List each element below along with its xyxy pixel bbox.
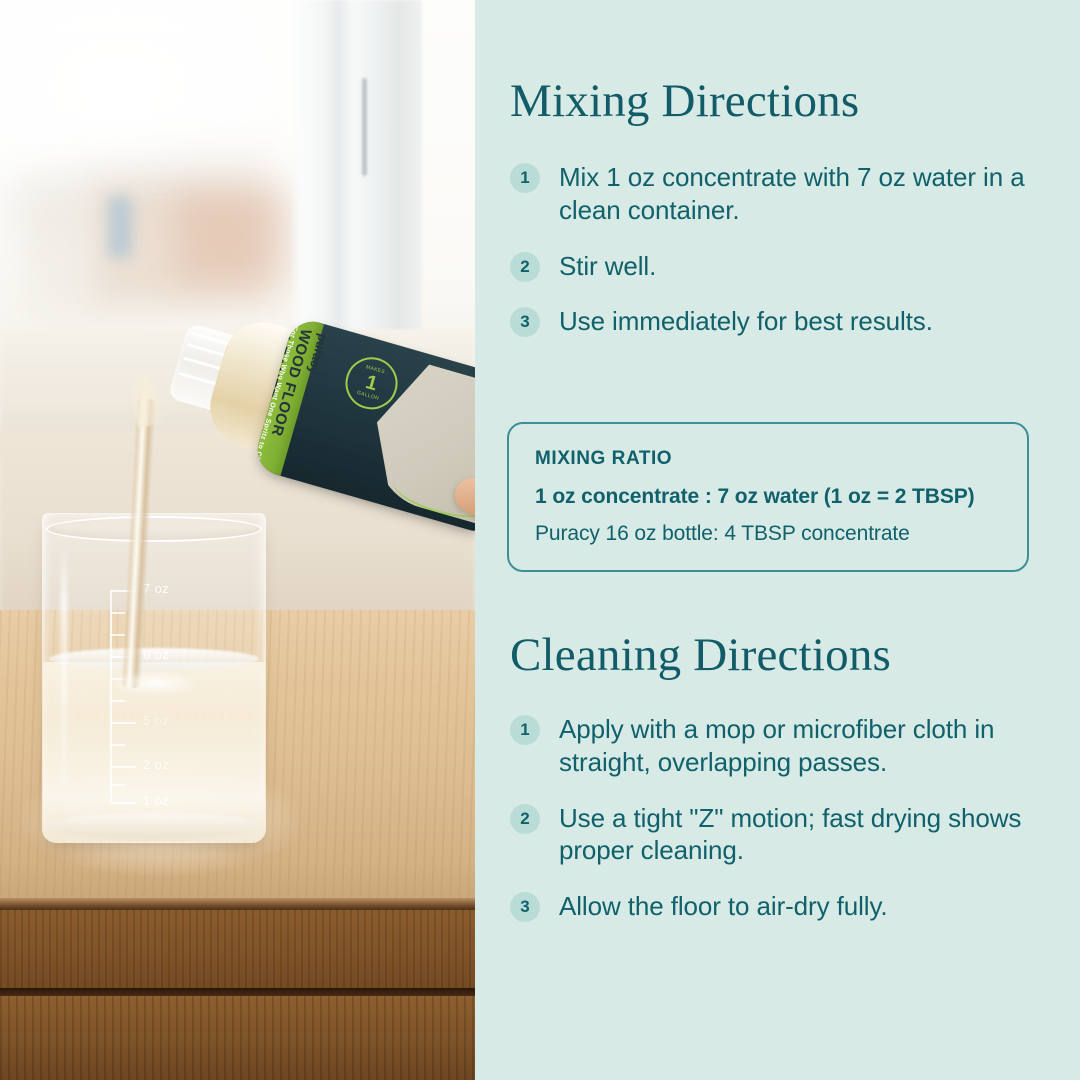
infographic-root: 7 oz 6 oz 5 oz 2 oz 1 oz For Those Who W…: [0, 0, 1080, 1080]
step-number-badge: 3: [510, 307, 540, 337]
scale-tick-minor: [110, 612, 125, 614]
window-frame: [290, 0, 422, 330]
list-item: 3 Allow the floor to air-dry fully.: [510, 889, 1040, 923]
list-item: 2 Stir well.: [510, 249, 1040, 283]
mixing-ratio-primary-line: 1 oz concentrate : 7 oz water (1 oz = 2 …: [535, 485, 1001, 509]
scale-label-2oz: 2 oz: [143, 757, 169, 772]
scale-label-7oz: 7 oz: [143, 581, 169, 596]
window-handle: [362, 78, 367, 176]
beaker-rim: [46, 516, 262, 542]
step-text: Allow the floor to air-dry fully.: [559, 889, 888, 923]
blurred-blue-shape: [108, 196, 132, 258]
list-item: 3 Use immediately for best results.: [510, 304, 1040, 338]
product-photo: 7 oz 6 oz 5 oz 2 oz 1 oz For Those Who W…: [0, 0, 475, 1080]
blurred-warm-shape: [175, 190, 290, 285]
scale-tick-5oz: [110, 722, 136, 724]
cleaning-directions-title: Cleaning Directions: [510, 632, 891, 679]
mixing-ratio-heading: MIXING RATIO: [535, 448, 1001, 470]
counter-front-panel: [0, 910, 475, 1000]
list-item: 1 Mix 1 oz concentrate with 7 oz water i…: [510, 160, 1040, 227]
mixing-directions-title: Mixing Directions: [510, 78, 859, 125]
beaker-highlight: [61, 544, 67, 784]
scale-tick-minor: [110, 744, 125, 746]
step-text: Stir well.: [559, 249, 656, 283]
step-number-badge: 1: [510, 163, 540, 193]
instructions-panel: Mixing Directions 1 Mix 1 oz concentrate…: [475, 0, 1080, 1080]
step-number-badge: 1: [510, 715, 540, 745]
counter-lower-panel: [0, 996, 475, 1080]
scale-label-5oz: 5 oz: [143, 713, 169, 728]
scale-label-6oz: 6 oz: [143, 647, 169, 662]
list-item: 1 Apply with a mop or microfiber cloth i…: [510, 712, 1040, 779]
scale-axis: [110, 590, 112, 802]
scale-label-1oz: 1 oz: [143, 793, 169, 808]
liquid-splash: [110, 670, 200, 696]
cleaning-steps-list: 1 Apply with a mop or microfiber cloth i…: [510, 712, 1040, 945]
scale-tick-minor: [110, 784, 125, 786]
step-number-badge: 2: [510, 804, 540, 834]
step-text: Use immediately for best results.: [559, 304, 933, 338]
step-text: Apply with a mop or microfiber cloth in …: [559, 712, 1040, 779]
scale-tick-minor: [110, 700, 125, 702]
step-text: Mix 1 oz concentrate with 7 oz water in …: [559, 160, 1040, 227]
mixing-ratio-secondary-line: Puracy 16 oz bottle: 4 TBSP concentrate: [535, 522, 1001, 546]
step-number-badge: 2: [510, 252, 540, 282]
mixing-ratio-callout-box: MIXING RATIO 1 oz concentrate : 7 oz wat…: [507, 422, 1029, 572]
list-item: 2 Use a tight "Z" motion; fast drying sh…: [510, 801, 1040, 868]
step-text: Use a tight "Z" motion; fast drying show…: [559, 801, 1040, 868]
mixing-steps-list: 1 Mix 1 oz concentrate with 7 oz water i…: [510, 160, 1040, 360]
step-number-badge: 3: [510, 892, 540, 922]
badge-bottom-text: GALLON: [356, 391, 379, 402]
scale-tick-1oz: [110, 802, 136, 804]
scale-tick-2oz: [110, 766, 136, 768]
